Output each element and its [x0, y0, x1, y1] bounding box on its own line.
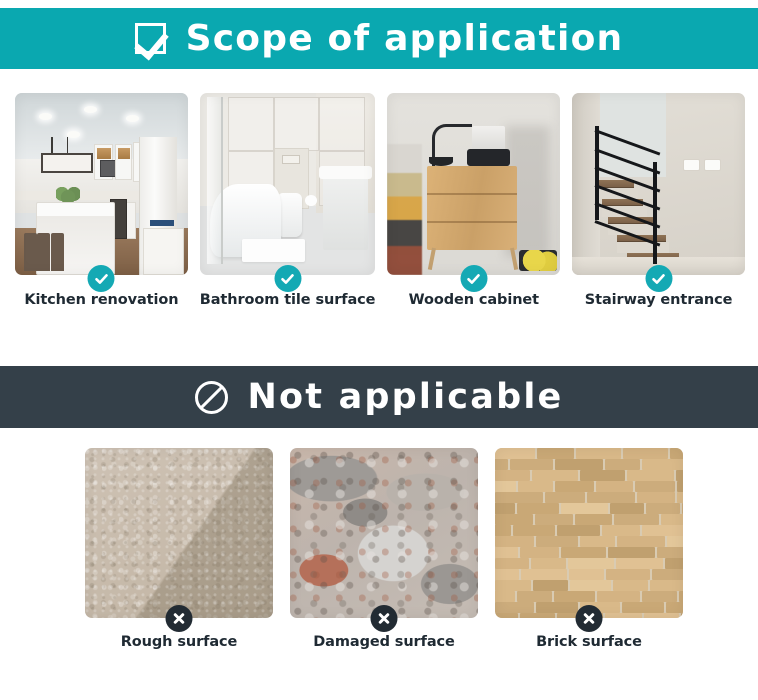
damaged-surface-photo [290, 448, 478, 618]
tile-caption: Wooden cabinet [387, 292, 560, 308]
checkbox-checked-icon [135, 23, 166, 54]
tile-damaged-surface: Damaged surface [290, 448, 478, 650]
no-entry-icon [195, 381, 228, 414]
not-applicable-banner-title: Not applicable [248, 380, 564, 415]
scope-banner: Scope of application [0, 8, 758, 69]
tile-brick-surface: Brick surface [495, 448, 683, 650]
tile-bathroom-tile-surface: Bathroom tile surface [200, 93, 376, 308]
tile-kitchen-renovation: Kitchen renovation [15, 93, 188, 308]
check-badge-icon [460, 265, 487, 292]
check-badge-icon [88, 265, 115, 292]
tile-stairway-entrance: Stairway entrance [572, 93, 745, 308]
bathroom-photo [200, 93, 376, 275]
tile-caption: Rough surface [85, 634, 273, 650]
tile-caption: Kitchen renovation [15, 292, 188, 308]
wooden-cabinet-photo [387, 93, 560, 275]
x-badge-icon [371, 605, 398, 632]
x-badge-icon [166, 605, 193, 632]
tile-caption: Bathroom tile surface [200, 292, 376, 308]
tile-wooden-cabinet: Wooden cabinet [387, 93, 560, 308]
brick-surface-photo [495, 448, 683, 618]
tile-rough-surface: Rough surface [85, 448, 273, 650]
rough-surface-photo [85, 448, 273, 618]
not-applicable-banner: Not applicable [0, 366, 758, 428]
check-badge-icon [274, 265, 301, 292]
kitchen-photo [15, 93, 188, 275]
scope-tile-row: Kitchen renovation [15, 93, 745, 308]
tile-caption: Damaged surface [290, 634, 478, 650]
scope-banner-title: Scope of application [186, 21, 624, 57]
stairway-photo [572, 93, 745, 275]
not-applicable-tile-row: Rough surface Damaged surface [85, 448, 685, 650]
x-badge-icon [576, 605, 603, 632]
infographic-page: Scope of application [0, 0, 758, 700]
tile-caption: Brick surface [495, 634, 683, 650]
check-badge-icon [645, 265, 672, 292]
tile-caption: Stairway entrance [572, 292, 745, 308]
